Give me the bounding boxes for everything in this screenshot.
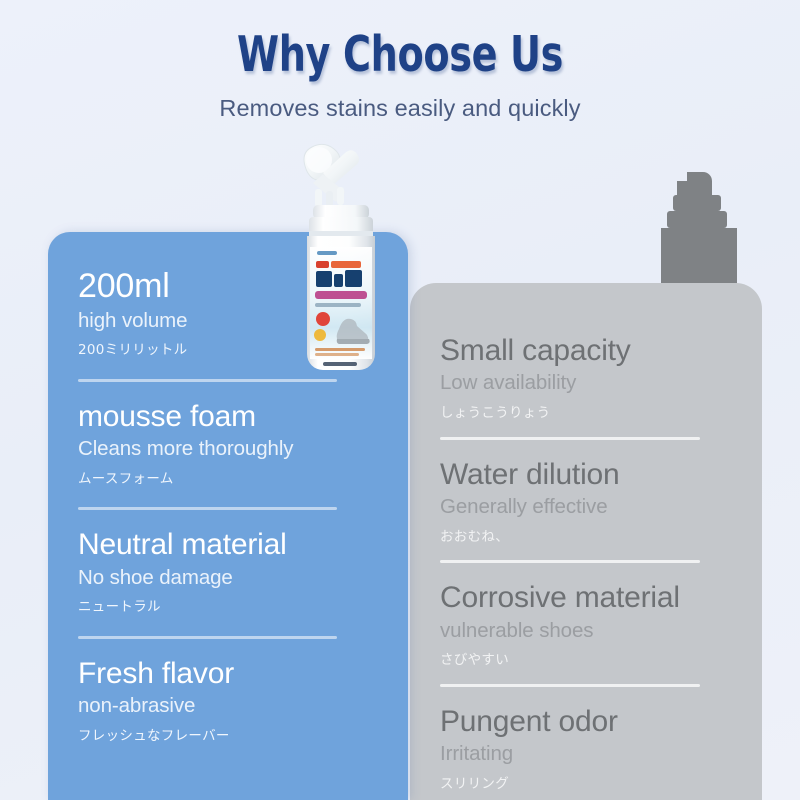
cons-jp-text: おおむね、 bbox=[440, 529, 738, 547]
cons-headline: Pungent odor bbox=[440, 706, 738, 738]
bottle-body bbox=[307, 236, 375, 370]
cons-item-small-capacity: Small capacity Low availability しょうこうりょう bbox=[440, 335, 738, 423]
cons-divider bbox=[440, 560, 700, 563]
cons-subtext: Low availability bbox=[440, 370, 738, 396]
pros-divider bbox=[78, 379, 337, 382]
pros-divider bbox=[78, 636, 337, 639]
cons-headline: Corrosive material bbox=[440, 582, 738, 614]
page-subtitle: Removes stains easily and quickly bbox=[0, 95, 800, 122]
bottle-cap bbox=[309, 205, 373, 236]
pros-divider bbox=[78, 507, 337, 510]
pros-item-mousse-foam: mousse foam Cleans more thoroughly ムースフォ… bbox=[78, 401, 384, 489]
cons-item-corrosive-material: Corrosive material vulnerable shoes さびやす… bbox=[440, 582, 738, 670]
cons-headline: Small capacity bbox=[440, 335, 738, 367]
cons-headline: Water dilution bbox=[440, 459, 738, 491]
pros-headline: Neutral material bbox=[78, 529, 384, 561]
cons-subtext: vulnerable shoes bbox=[440, 618, 738, 644]
pros-item-neutral-material: Neutral material No shoe damage ニュートラル bbox=[78, 529, 384, 617]
foam-shoe-cleaner-bottle bbox=[293, 143, 389, 376]
cons-item-water-dilution: Water dilution Generally effective おおむね、 bbox=[440, 459, 738, 547]
pros-subtext: No shoe damage bbox=[78, 565, 384, 591]
cons-jp-text: スリリング bbox=[440, 776, 738, 794]
pros-headline: Fresh flavor bbox=[78, 658, 384, 690]
cons-subtext: Irritating bbox=[440, 741, 738, 767]
header: Why Choose Us Removes stains easily and … bbox=[0, 0, 800, 122]
pros-headline: mousse foam bbox=[78, 401, 384, 433]
pros-subtext: non-abrasive bbox=[78, 693, 384, 719]
pros-item-fresh-flavor: Fresh flavor non-abrasive フレッシュなフレーバー bbox=[78, 658, 384, 746]
cons-item-pungent-odor: Pungent odor Irritating スリリング bbox=[440, 706, 738, 794]
cons-list: Small capacity Low availability しょうこうりょう… bbox=[440, 335, 762, 793]
pros-jp-text: フレッシュなフレーバー bbox=[78, 728, 384, 746]
cons-jp-text: しょうこうりょう bbox=[440, 405, 738, 423]
pros-jp-text: ムースフォーム bbox=[78, 471, 384, 489]
cons-panel: Small capacity Low availability しょうこうりょう… bbox=[410, 283, 762, 800]
page-title: Why Choose Us bbox=[88, 26, 712, 83]
cons-jp-text: さびやすい bbox=[440, 652, 738, 670]
cons-subtext: Generally effective bbox=[440, 494, 738, 520]
cons-divider bbox=[440, 437, 700, 440]
pros-subtext: Cleans more thoroughly bbox=[78, 436, 384, 462]
brush-applicator-head bbox=[304, 144, 359, 207]
cons-divider bbox=[440, 684, 700, 687]
pros-jp-text: ニュートラル bbox=[78, 599, 384, 617]
